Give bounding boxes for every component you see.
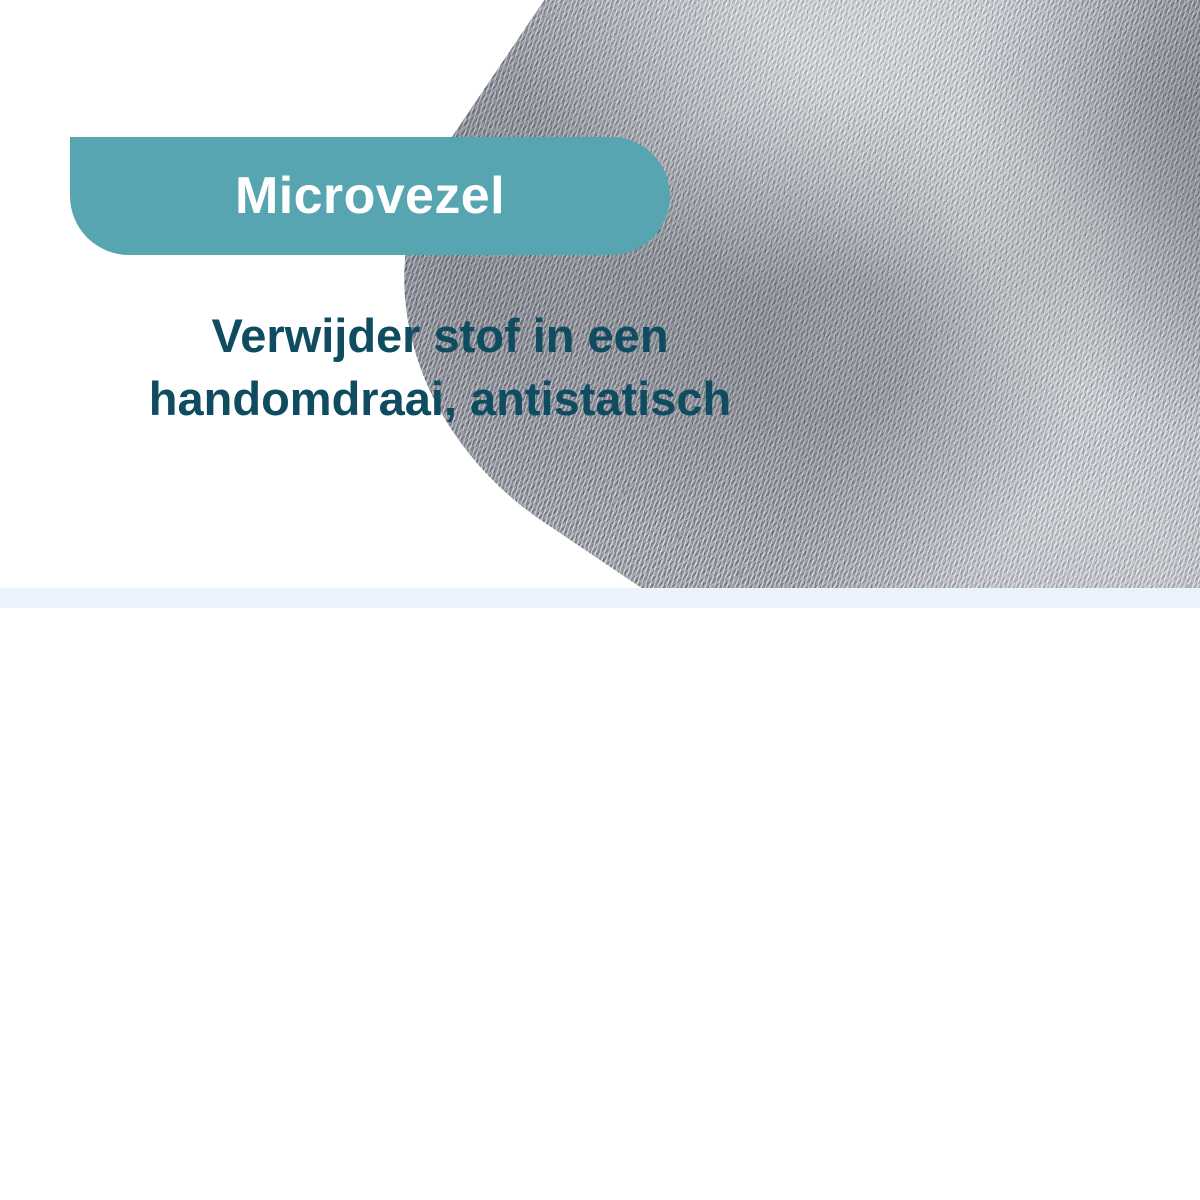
section-flexibel: Flexibel De buigbare steel komt aan alle… — [0, 608, 1200, 1200]
section-divider — [0, 588, 1200, 608]
badge-microvezel: Microvezel — [70, 137, 670, 255]
microfiber-closeup-image — [302, 0, 1200, 588]
product-infographic: Microvezel Verwijder stof in een handomd… — [0, 0, 1200, 1200]
headline-microvezel: Verwijder stof in een handomdraai, antis… — [60, 305, 820, 430]
section-microvezel: Microvezel Verwijder stof in een handomd… — [0, 0, 1200, 588]
badge-microvezel-label: Microvezel — [235, 166, 505, 226]
